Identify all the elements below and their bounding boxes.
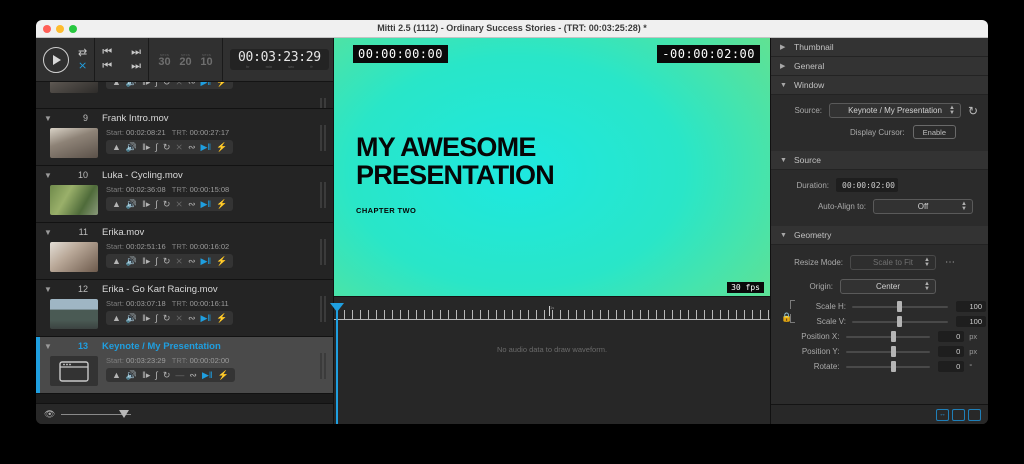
position-y-slider[interactable] [846, 346, 930, 357]
geometry-section-body: Resize Mode: Scale to Fit ▲▼ ⋯ Origin: C… [771, 245, 988, 386]
shuffle-icon[interactable]: ⨯ [175, 82, 183, 87]
scale-v-label: Scale V: [794, 317, 846, 326]
source-select[interactable]: Keynote / My Presentation ▲▼ [829, 103, 961, 118]
scale-v-value: 100 [969, 317, 982, 326]
loop-icon[interactable]: ⇄ [78, 48, 87, 59]
duration-label: Duration: [781, 181, 829, 190]
autoalign-select[interactable]: Off ▲▼ [873, 199, 973, 214]
pause-at-end-icon[interactable]: ▶‖ [201, 82, 212, 87]
clip-number: 13 [58, 341, 88, 351]
clip-toolbar[interactable]: ▲ 🔊 ‖▸ ∫ ↻ ⨯ ∾ ▶‖ ⚡ [106, 197, 233, 211]
skip-10-button[interactable]: secs 10 [198, 52, 215, 68]
shuffle-icon[interactable]: ⨯ [175, 256, 183, 266]
tc-unit-fr: fr [310, 64, 312, 69]
no-audio-message: No audio data to draw waveform. [334, 345, 770, 354]
ruler-label-1s: 1s [550, 305, 554, 310]
skip-to-end-icon[interactable]: ⏭ [131, 47, 141, 58]
scale-v-row[interactable]: Scale V: 100 % [794, 316, 988, 327]
trt-label: TRT: [172, 128, 188, 137]
clip-name: Erika - Go Kart Racing.mov [102, 284, 218, 295]
chevron-down-icon[interactable]: ▼ [44, 171, 58, 180]
display-cursor-button-label: Enable [923, 128, 946, 137]
fade-out-icon[interactable]: ∾ [188, 142, 196, 152]
pause-at-end-icon[interactable]: ▶‖ [201, 313, 212, 323]
rotate-row[interactable]: Rotate: 0 ° [794, 361, 978, 372]
skip-to-start-icon[interactable]: ⏮ [102, 47, 112, 58]
shuffle-icon[interactable]: ⨯ [175, 142, 183, 152]
tc-unit-min: min [266, 64, 272, 69]
preview-panel: 00:00:00:00 -00:00:02:00 MY AWESOME PRES… [334, 38, 770, 424]
position-y-value: 0 [956, 347, 960, 356]
fade-out-icon[interactable]: ∾ [188, 199, 196, 209]
list-item[interactable]: ▼ 12 Erika - Go Kart Racing.mov Start: 0… [36, 280, 333, 337]
clip-thumbnail [50, 356, 98, 386]
chevron-updown-icon: ▲▼ [961, 202, 967, 212]
window-section-body: Source: Keynote / My Presentation ▲▼ ↻ D… [771, 95, 988, 151]
minus-icon[interactable]: — [175, 370, 184, 380]
scale-h-field[interactable]: 100 [956, 301, 986, 312]
origin-label: Origin: [781, 282, 833, 291]
previous-clip-icon[interactable]: ⏮ [102, 61, 112, 72]
clip-toolbar[interactable]: ▲ 🔊 ‖▸ ∫ ↻ ⨯ ∾ ▶‖ ⚡ [106, 254, 233, 268]
source-label: Source: [781, 106, 822, 115]
tc-unit-hr: hr [246, 64, 250, 69]
clip-toolbar[interactable]: ▲ 🔊 ‖▸ ∫ ↻ ⨯ ∾ ▶‖ ⚡ [106, 311, 233, 325]
clip-thumbnail [50, 185, 98, 215]
goto-icon[interactable]: ‖▸ [142, 82, 150, 87]
resize-mode-value: Scale to Fit [873, 258, 913, 267]
clip-name: Luka - Cycling.mov [102, 170, 183, 181]
skip-20-value: 20 [177, 57, 194, 68]
eject-icon[interactable]: ▲ [112, 82, 121, 87]
inspector-footer: ↔ [771, 404, 988, 424]
flash-icon[interactable]: ⚡ [216, 199, 227, 209]
clip-toolbar[interactable]: ▲ 🔊 ‖▸ ∫ ↻ ⨯ ∾ ▶‖ ⚡ [106, 82, 233, 89]
clip-meta: Start: 00:03:23:29 TRT: 00:00:02:00 [106, 356, 235, 365]
clip-list-panel: ⇄ ⨯ ⏮ ⏮ ⏭ ⏭ [36, 38, 334, 424]
drag-handle[interactable] [320, 182, 327, 208]
clip-thumbnail [50, 242, 98, 272]
goto-icon[interactable]: ‖▸ [142, 313, 150, 323]
pause-at-end-icon[interactable]: ▶‖ [201, 199, 212, 209]
chevron-right-icon[interactable]: ▶ [780, 62, 787, 70]
source-section-body: Duration: 00:00:02:00 Auto-Align to: Off… [771, 170, 988, 226]
inspector-panel: ▶ Thumbnail ▶ General ▼ Window Source: K… [770, 38, 988, 424]
drag-handle[interactable] [320, 296, 327, 322]
audio-timeline[interactable]: 1s No audio data to draw waveform. [334, 296, 770, 424]
loop-icon[interactable]: ↻ [163, 256, 171, 266]
pause-at-end-icon[interactable]: ▶‖ [201, 256, 212, 266]
fade-in-icon[interactable]: ∫ [155, 142, 157, 152]
clip-thumbnail [50, 82, 98, 93]
volume-icon[interactable]: 🔊 [126, 142, 137, 152]
trt-value: 00:00:02:00 [190, 356, 230, 365]
window-title: Mitti 2.5 (1112) - Ordinary Success Stor… [36, 23, 988, 33]
fade-out-icon[interactable]: ∾ [188, 313, 196, 323]
start-label: Start: [106, 185, 124, 194]
eject-icon[interactable]: ▲ [112, 142, 121, 152]
start-value: 00:03:07:18 [126, 299, 166, 308]
clip-name: Erika.mov [102, 227, 144, 238]
flash-icon[interactable]: ⚡ [216, 256, 227, 266]
loop-icon[interactable]: ↻ [163, 370, 171, 380]
trt-value: 00:00:16:11 [190, 299, 229, 308]
position-x-value: 0 [956, 332, 960, 341]
autoalign-value: Off [918, 202, 929, 211]
start-value: 00:02:36:08 [126, 185, 166, 194]
clip-number: 10 [58, 170, 88, 180]
list-item[interactable]: ▼ 11 Erika.mov Start: 00:02:51:16 TRT: 0… [36, 223, 333, 280]
eject-icon[interactable]: ▲ [112, 199, 121, 209]
nav-controls: ⏮ ⏮ ⏭ ⏭ [95, 38, 149, 81]
chevron-down-icon[interactable]: ▼ [780, 232, 787, 239]
drag-handle[interactable] [320, 98, 327, 109]
chevron-down-icon[interactable]: ▼ [44, 114, 58, 123]
row-size-slider[interactable] [61, 409, 131, 419]
skip-30-button[interactable]: secs 30 [156, 52, 173, 68]
goto-icon[interactable]: ‖▸ [142, 256, 150, 266]
timeline-ruler[interactable]: 1s [334, 306, 770, 320]
rotate-slider[interactable] [846, 361, 930, 372]
window-icon [59, 361, 89, 382]
start-label: Start: [106, 128, 124, 137]
title-bar: Mitti 2.5 (1112) - Ordinary Success Stor… [36, 20, 988, 38]
refresh-icon[interactable]: ↻ [968, 104, 978, 118]
shuffle-icon[interactable]: ⨯ [175, 199, 183, 209]
start-value: 00:02:51:16 [126, 242, 166, 251]
chevron-down-icon[interactable]: ▼ [44, 228, 58, 237]
goto-icon[interactable]: ‖▸ [142, 370, 150, 380]
loop-icon[interactable]: ↻ [163, 142, 171, 152]
position-y-row[interactable]: Position Y: 0 px [794, 346, 978, 357]
more-options-icon[interactable]: ⋯ [945, 257, 956, 268]
layout-wide-icon[interactable] [968, 409, 981, 421]
fade-in-icon[interactable]: ∫ [155, 370, 157, 380]
resize-mode-select[interactable]: Scale to Fit ▲▼ [850, 255, 936, 270]
loop-icon[interactable]: ↻ [163, 199, 171, 209]
trt-value: 00:00:15:08 [190, 185, 230, 194]
slide-subtitle: CHAPTER TWO [356, 206, 416, 215]
volume-icon[interactable]: 🔊 [126, 199, 137, 209]
volume-icon[interactable]: 🔊 [126, 313, 137, 323]
trt-value: 00:00:27:17 [190, 128, 230, 137]
application-window: Mitti 2.5 (1112) - Ordinary Success Stor… [36, 20, 988, 424]
flash-icon[interactable]: ⚡ [216, 313, 227, 323]
play-button[interactable] [43, 47, 69, 73]
skip-10-value: 10 [198, 57, 215, 68]
slide-title-line1: MY AWESOME [356, 134, 554, 162]
flash-icon[interactable]: ⚡ [216, 142, 227, 152]
clip-toolbar[interactable]: ▲ 🔊 ‖▸ ∫ ↻ — ∾ ▶‖ ⚡ [106, 368, 235, 382]
playhead[interactable] [336, 303, 338, 424]
scale-h-row[interactable]: Scale H: 100 % [794, 301, 988, 312]
position-y-unit: px [969, 347, 978, 356]
eject-icon[interactable]: ▲ [112, 256, 121, 266]
scale-h-label: Scale H: [794, 302, 846, 311]
chevron-updown-icon: ▲▼ [949, 106, 955, 116]
fps-badge: 30 fps [727, 282, 764, 293]
position-y-field[interactable]: 0 [938, 346, 965, 357]
eye-icon[interactable]: 👁 [44, 409, 55, 420]
chevron-down-icon[interactable]: ▼ [780, 157, 787, 164]
start-label: Start: [106, 242, 124, 251]
layout-single-icon[interactable] [952, 409, 965, 421]
drag-handle[interactable] [320, 125, 327, 151]
chevron-right-icon[interactable]: ▶ [780, 43, 787, 51]
clip-meta: Start: 00:03:07:18 TRT: 00:00:16:11 [106, 299, 233, 308]
position-x-field[interactable]: 0 [938, 331, 965, 342]
fade-out-icon[interactable]: ∾ [188, 82, 196, 87]
list-item[interactable]: ▲ 🔊 ‖▸ ∫ ↻ ⨯ ∾ ▶‖ ⚡ [36, 82, 333, 109]
section-label: Window [794, 80, 824, 90]
skip-20-button[interactable]: secs 20 [177, 52, 194, 68]
goto-icon[interactable]: ‖▸ [142, 199, 150, 209]
volume-icon[interactable]: 🔊 [126, 370, 137, 380]
transport-bar: ⇄ ⨯ ⏮ ⏮ ⏭ ⏭ [36, 38, 333, 82]
timecode-display[interactable]: 00:03:23:29 hr min sec fr [223, 38, 337, 81]
origin-select[interactable]: Center ▲▼ [840, 279, 936, 294]
drag-handle[interactable] [320, 239, 327, 265]
origin-value: Center [876, 282, 900, 291]
chevron-down-icon[interactable]: ▼ [44, 285, 58, 294]
list-item-selected[interactable]: ▼ 13 Keynote / My Presentation [36, 337, 333, 394]
chevron-updown-icon: ▲▼ [924, 282, 930, 292]
fade-out-icon[interactable]: ∾ [189, 370, 197, 380]
display-cursor-label: Display Cursor: [850, 128, 905, 137]
tc-unit-sec: sec [288, 64, 294, 69]
trt-label: TRT: [172, 356, 188, 365]
scale-lock[interactable]: 🔒 [781, 307, 792, 325]
shuffle-icon[interactable]: ⨯ [175, 313, 183, 323]
section-label: Thumbnail [794, 42, 834, 52]
master-timecode: 00:03:23:29 [238, 51, 321, 65]
clip-meta: Start: 00:02:51:16 TRT: 00:00:16:02 [106, 242, 233, 251]
skip-seconds-group: secs 30 secs 20 secs 10 [149, 38, 223, 81]
clip-toolbar[interactable]: ▲ 🔊 ‖▸ ∫ ↻ ⨯ ∾ ▶‖ ⚡ [106, 140, 233, 154]
layout-split-icon[interactable]: ↔ [936, 409, 949, 421]
loop-icon[interactable]: ↻ [163, 82, 171, 87]
shuffle-icon[interactable]: ⨯ [78, 61, 87, 72]
scale-v-field[interactable]: 100 [956, 316, 986, 327]
clip-name: Keynote / My Presentation [102, 341, 221, 352]
fade-in-icon[interactable]: ∫ [155, 199, 157, 209]
video-preview[interactable]: 00:00:00:00 -00:00:02:00 MY AWESOME PRES… [334, 38, 770, 296]
section-source[interactable]: ▼ Source [771, 151, 988, 170]
chevron-updown-icon: ▲▼ [924, 258, 930, 268]
list-item[interactable]: ▼ 10 Luka - Cycling.mov Start: 00:02:36:… [36, 166, 333, 223]
slide-title-line2: PRESENTATION [356, 162, 554, 190]
position-x-slider[interactable] [846, 331, 930, 342]
start-value: 00:03:23:29 [126, 356, 166, 365]
fade-in-icon[interactable]: ∫ [155, 256, 157, 266]
scale-h-slider[interactable] [852, 301, 948, 312]
trt-value: 00:00:16:02 [190, 242, 230, 251]
section-geometry[interactable]: ▼ Geometry [771, 226, 988, 245]
clip-number: 12 [58, 284, 88, 294]
timecode-remaining: -00:00:02:00 [657, 45, 760, 63]
fade-out-icon[interactable]: ∾ [188, 256, 196, 266]
chevron-down-icon[interactable]: ▼ [44, 342, 58, 351]
section-general[interactable]: ▶ General [771, 57, 988, 76]
trt-label: TRT: [172, 185, 188, 194]
autoalign-label: Auto-Align to: [781, 202, 866, 211]
position-x-unit: px [969, 332, 978, 341]
section-window[interactable]: ▼ Window [771, 76, 988, 95]
clip-list[interactable]: ▲ 🔊 ‖▸ ∫ ↻ ⨯ ∾ ▶‖ ⚡ [36, 82, 333, 403]
chevron-down-icon[interactable]: ▼ [780, 82, 787, 89]
clip-name: Frank Intro.mov [102, 113, 169, 124]
clip-thumbnail [50, 299, 98, 329]
volume-icon[interactable]: 🔊 [126, 82, 137, 87]
trt-label: TRT: [172, 299, 188, 308]
duration-field[interactable]: 00:00:02:00 [836, 178, 898, 192]
drag-handle[interactable] [320, 353, 327, 379]
pause-at-end-icon[interactable]: ▶‖ [202, 370, 213, 380]
rotate-field[interactable]: 0 [938, 361, 965, 372]
clip-meta: Start: 00:02:08:21 TRT: 00:00:27:17 [106, 128, 233, 137]
section-label: Source [794, 155, 821, 165]
next-clip-icon[interactable]: ⏭ [131, 61, 141, 72]
scale-v-slider[interactable] [852, 316, 948, 327]
timecode-elapsed: 00:00:00:00 [353, 45, 448, 63]
position-x-label: Position X: [794, 332, 840, 341]
display-cursor-enable-button[interactable]: Enable [913, 125, 956, 139]
section-thumbnail[interactable]: ▶ Thumbnail [771, 38, 988, 57]
pause-at-end-icon[interactable]: ▶‖ [201, 142, 212, 152]
rotate-value: 0 [956, 362, 960, 371]
position-x-row[interactable]: Position X: 0 px [794, 331, 978, 342]
section-label: General [794, 61, 824, 71]
source-value: Keynote / My Presentation [848, 106, 942, 115]
duration-value: 00:00:02:00 [842, 181, 895, 190]
rotate-label: Rotate: [794, 362, 840, 371]
eject-icon[interactable]: ▲ [112, 313, 121, 323]
volume-icon[interactable]: 🔊 [126, 256, 137, 266]
goto-icon[interactable]: ‖▸ [142, 142, 150, 152]
clip-number: 11 [58, 227, 88, 237]
start-value: 00:02:08:21 [126, 128, 166, 137]
start-label: Start: [106, 356, 124, 365]
clip-meta: Start: 00:02:36:08 TRT: 00:00:15:08 [106, 185, 233, 194]
flash-icon[interactable]: ⚡ [216, 82, 227, 87]
clip-thumbnail [50, 128, 98, 158]
skip-30-value: 30 [156, 57, 173, 68]
flash-icon[interactable]: ⚡ [218, 370, 229, 380]
scale-h-value: 100 [969, 302, 982, 311]
start-label: Start: [106, 299, 124, 308]
eject-icon[interactable]: ▲ [112, 370, 121, 380]
list-item[interactable]: ▼ 9 Frank Intro.mov Start: 00:02:08:21 T… [36, 109, 333, 166]
slide-title: MY AWESOME PRESENTATION [356, 134, 554, 189]
section-label: Geometry [794, 230, 831, 240]
clip-list-footer: 👁 [36, 403, 333, 424]
clip-number: 9 [58, 113, 88, 123]
playback-controls: ⇄ ⨯ [36, 38, 95, 81]
resize-mode-label: Resize Mode: [781, 258, 843, 267]
rotate-unit: ° [969, 362, 978, 371]
fade-in-icon[interactable]: ∫ [155, 313, 157, 323]
position-y-label: Position Y: [794, 347, 840, 356]
trt-label: TRT: [172, 242, 188, 251]
fade-in-icon[interactable]: ∫ [155, 82, 157, 87]
loop-icon[interactable]: ↻ [163, 313, 171, 323]
